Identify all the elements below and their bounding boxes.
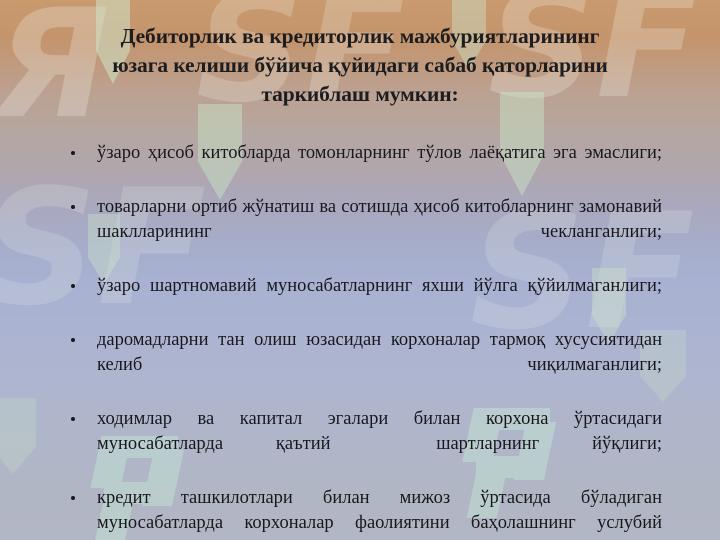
list-item-text: ходимлар ва капитал эгалари билан корхон…	[97, 407, 662, 482]
bullet-point-icon	[71, 338, 75, 342]
list-item-text: товарларни ортиб жўнатиш ва сотишда ҳисо…	[97, 195, 662, 270]
list-item: ходимлар ва капитал эгалари билан корхон…	[62, 407, 662, 482]
slide-title-line-1: Дебиторлик ва кредиторлик мажбуриятларин…	[62, 22, 658, 51]
list-item: даромадларни тан олиш юзасидан корхонала…	[62, 328, 662, 403]
slide-title: Дебиторлик ва кредиторлик мажбуриятларин…	[62, 22, 658, 109]
list-item-text: ўзаро ҳисоб китобларда томонларнинг тўло…	[97, 141, 662, 191]
list-item: ўзаро ҳисоб китобларда томонларнинг тўло…	[62, 141, 662, 191]
bullet-point-icon	[71, 496, 75, 500]
list-item-text: даромадларни тан олиш юзасидан корхонала…	[97, 328, 662, 403]
slide-title-line-2: юзага келиши бўйича қуйидаги сабаб қатор…	[62, 51, 658, 80]
slide-content: Дебиторлик ва кредиторлик мажбуриятларин…	[0, 0, 720, 540]
slide-title-line-3: таркиблаш мумкин:	[62, 80, 658, 109]
bullet-point-icon	[71, 205, 75, 209]
list-item-text: ўзаро шартномавий муносабатларнинг яхши …	[97, 274, 662, 324]
bullet-point-icon	[71, 151, 75, 155]
presentation-slide: Я SF SF SF SF	[0, 0, 720, 540]
list-item: ўзаро шартномавий муносабатларнинг яхши …	[62, 274, 662, 324]
bullet-list: ўзаро ҳисоб китобларда томонларнинг тўло…	[62, 141, 662, 540]
bullet-point-icon	[71, 284, 75, 288]
list-item: товарларни ортиб жўнатиш ва сотишда ҳисо…	[62, 195, 662, 270]
bullet-point-icon	[71, 417, 75, 421]
list-item: кредит ташкилотлари билан мижоз ўртасида…	[62, 486, 662, 540]
list-item-text: кредит ташкилотлари билан мижоз ўртасида…	[97, 486, 662, 540]
